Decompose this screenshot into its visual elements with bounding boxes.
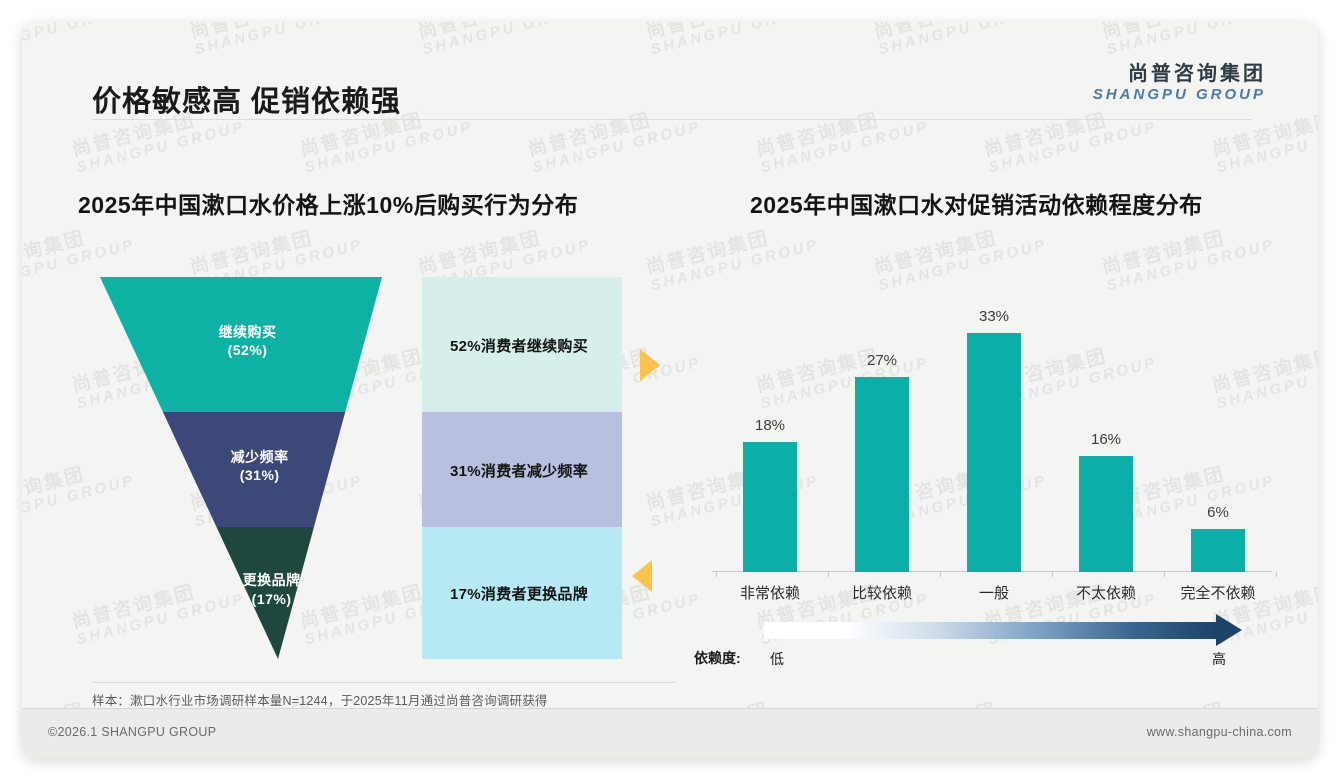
bar-group: 16%不太依赖 [1052, 272, 1160, 572]
bar-value-label: 16% [1091, 431, 1121, 448]
category-label: 比较依赖 [852, 582, 912, 603]
bar[interactable] [967, 333, 1021, 572]
funnel-segment [163, 412, 345, 527]
page-title: 价格敏感高 促销依赖强 [92, 78, 401, 120]
source-footnote: 样本：漱口水行业市场调研样本量N=1244，于2025年11月通过尚普咨询调研获… [92, 690, 792, 709]
axis-tick [1164, 572, 1165, 577]
slide-header: 价格敏感高 促销依赖强 尚普咨询集团 SHANGPU GROUP [22, 22, 1318, 120]
legend-low-label: 低 [770, 649, 784, 669]
bar-group: 6%完全不依赖 [1164, 272, 1272, 572]
bar-group: 18%非常依赖 [716, 272, 824, 572]
legend-title: 依赖度: [694, 648, 741, 668]
arrow-left-icon [632, 560, 652, 592]
bar[interactable] [1191, 529, 1245, 572]
funnel-segment [216, 527, 313, 659]
dependency-gradient-legend: 依赖度: 低 高 [712, 614, 1272, 672]
axis-tick [1276, 572, 1277, 577]
gradient-arrow-head-icon [1216, 614, 1242, 646]
axis-tick [940, 572, 941, 577]
funnel-side-text-0: 52%消费者继续购买 [450, 335, 588, 356]
legend-high-label: 高 [1212, 649, 1226, 669]
funnel-segment [100, 277, 382, 412]
bar[interactable] [855, 377, 909, 572]
left-chart-title: 2025年中国漱口水价格上涨10%后购买行为分布 [78, 186, 578, 220]
bar[interactable] [1079, 456, 1133, 572]
logo-chinese-name: 尚普咨询集团 [1093, 63, 1266, 85]
dependency-bar-chart: 18%非常依赖27%比较依赖33%一般16%不太依赖6%完全不依赖 [712, 272, 1272, 572]
category-label: 非常依赖 [740, 582, 800, 603]
category-label: 完全不依赖 [1180, 582, 1255, 603]
right-chart-title: 2025年中国漱口水对促销活动依赖程度分布 [750, 186, 1203, 220]
category-label: 一般 [979, 582, 1009, 603]
gradient-bar [764, 622, 1216, 639]
category-label: 不太依赖 [1076, 582, 1136, 603]
axis-tick [1052, 572, 1053, 577]
funnel-chart: 继续购买(52%) 减少频率(31%) 更换品牌(17%) 52%消费者继续购买… [92, 277, 622, 659]
bar-group: 33%一般 [940, 272, 1048, 572]
funnel-side-text-1: 31%消费者减少频率 [450, 460, 588, 481]
logo-english-name: SHANGPU GROUP [1093, 87, 1266, 104]
footnote-text: 样本：漱口水行业市场调研样本量N=1244，于2025年11月通过尚普咨询调研获… [92, 690, 792, 709]
header-divider [92, 119, 1252, 120]
axis-tick [828, 572, 829, 577]
bar-value-label: 33% [979, 308, 1009, 325]
funnel-side-text-2: 17%消费者更换品牌 [450, 583, 588, 604]
bar-value-label: 6% [1207, 504, 1229, 521]
axis-tick [716, 572, 717, 577]
bar-value-label: 18% [755, 417, 785, 434]
slide-footer: ©2026.1 SHANGPU GROUP www.shangpu-china.… [22, 708, 1318, 758]
bar[interactable] [743, 442, 797, 572]
website-link[interactable]: www.shangpu-china.com [1147, 725, 1292, 739]
slide-card: 尚普咨询集团SHANGPU GROUP尚普咨询集团SHANGPU GROUP尚普… [22, 22, 1318, 758]
brand-logo: 尚普咨询集团 SHANGPU GROUP [1093, 63, 1266, 104]
bar-group: 27%比较依赖 [828, 272, 936, 572]
footer-divider [22, 708, 1318, 709]
footnote-divider [92, 682, 676, 683]
bar-value-label: 27% [867, 352, 897, 369]
copyright-text: ©2026.1 SHANGPU GROUP [48, 725, 216, 739]
arrow-right-icon [640, 349, 660, 381]
